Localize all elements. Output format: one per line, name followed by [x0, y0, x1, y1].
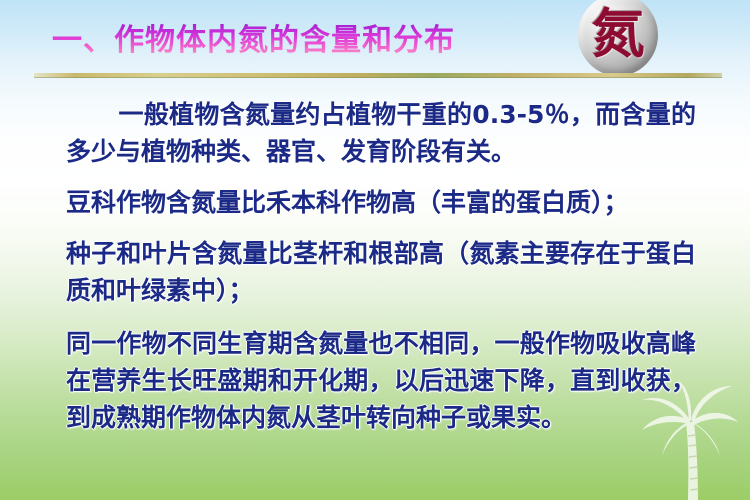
- nitrogen-badge: 氮: [578, 0, 658, 76]
- paragraph-2: 豆科作物含氮量比禾本科作物高（丰富的蛋白质）；: [66, 184, 696, 221]
- slide-title: 一、作物体内氮的含量和分布: [52, 22, 455, 60]
- paragraph-3: 种子和叶片含氮量比茎杆和根部高（氮素主要存在于蛋白质和叶绿素中）；: [66, 235, 696, 309]
- paragraph-4: 同一作物不同生育期含氮量也不相同，一般作物吸收高峰在营养生长旺盛期和开化期，以后…: [66, 325, 696, 436]
- title-divider: [34, 73, 722, 78]
- paragraph-1: 一般植物含氮量约占植物干重的0.3-5％，而含量的多少与植物种类、器官、发育阶段…: [66, 96, 696, 170]
- slide-canvas: 氮 一、作物体内氮的含量和分布 一般植物含氮量约占植物干重的0.3-5％，而含量…: [0, 0, 750, 500]
- slide-body: 一般植物含氮量约占植物干重的0.3-5％，而含量的多少与植物种类、器官、发育阶段…: [66, 96, 696, 436]
- nitrogen-character: 氮: [592, 8, 645, 61]
